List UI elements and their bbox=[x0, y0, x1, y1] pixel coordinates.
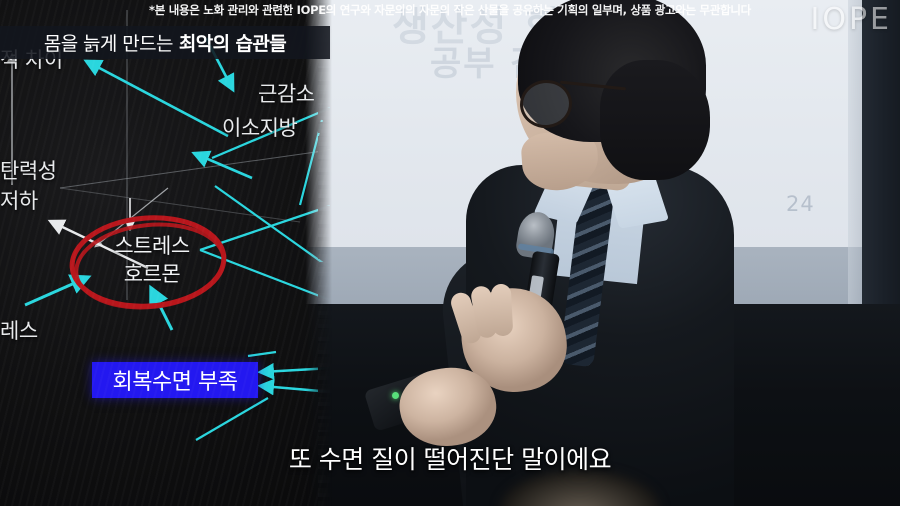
slide-page-number: 24 bbox=[786, 192, 815, 216]
finger bbox=[491, 284, 514, 337]
remote-led-indicator bbox=[392, 392, 399, 399]
diagram-ellipse-label: 스트레스 호르몬 bbox=[96, 232, 208, 288]
title-normal-part: 몸을 늙게 만드는 bbox=[44, 29, 173, 56]
speaker-hair-back bbox=[600, 60, 710, 180]
video-title-band: 몸을 늙게 만드는 최악의 습관들 bbox=[0, 26, 330, 59]
diagram-label-1: 근감소 bbox=[258, 78, 314, 108]
wall-highlight bbox=[848, 0, 862, 304]
right-wall bbox=[862, 0, 900, 304]
diagram-label-3: 탄력성 bbox=[0, 155, 56, 185]
diagram-label-4: 저하 bbox=[0, 185, 38, 215]
diagram-label-5: 레스 bbox=[0, 315, 38, 345]
disclaimer-text: *본 내용은 노화 관리와 관련한 IOPE의 연구와 자문의의 자문의 작은 … bbox=[0, 2, 900, 18]
subtitle-caption: 또 수면 질이 떨어진단 말이에요 bbox=[0, 440, 900, 476]
diagram-blue-highlight-box: 회복수면 부족 bbox=[92, 362, 258, 398]
diagram-overlay-panel: 스트레스 호르몬 적 차이 근감소 이소지방 탄력성 저하 레스 회복수면 부족 bbox=[0, 0, 332, 506]
title-bold-part: 최악의 습관들 bbox=[179, 29, 286, 56]
ellipse-label-line-1: 스트레스 bbox=[96, 232, 208, 260]
blue-box-label: 회복수면 부족 bbox=[113, 364, 238, 396]
diagram-label-2: 이소지방 bbox=[222, 112, 297, 142]
channel-watermark: IOPE bbox=[810, 2, 892, 37]
speaker-figure bbox=[430, 0, 760, 506]
ellipse-label-line-2: 호르몬 bbox=[96, 260, 208, 288]
video-frame: 생산성 향상 공부 감 24 bbox=[0, 0, 900, 506]
